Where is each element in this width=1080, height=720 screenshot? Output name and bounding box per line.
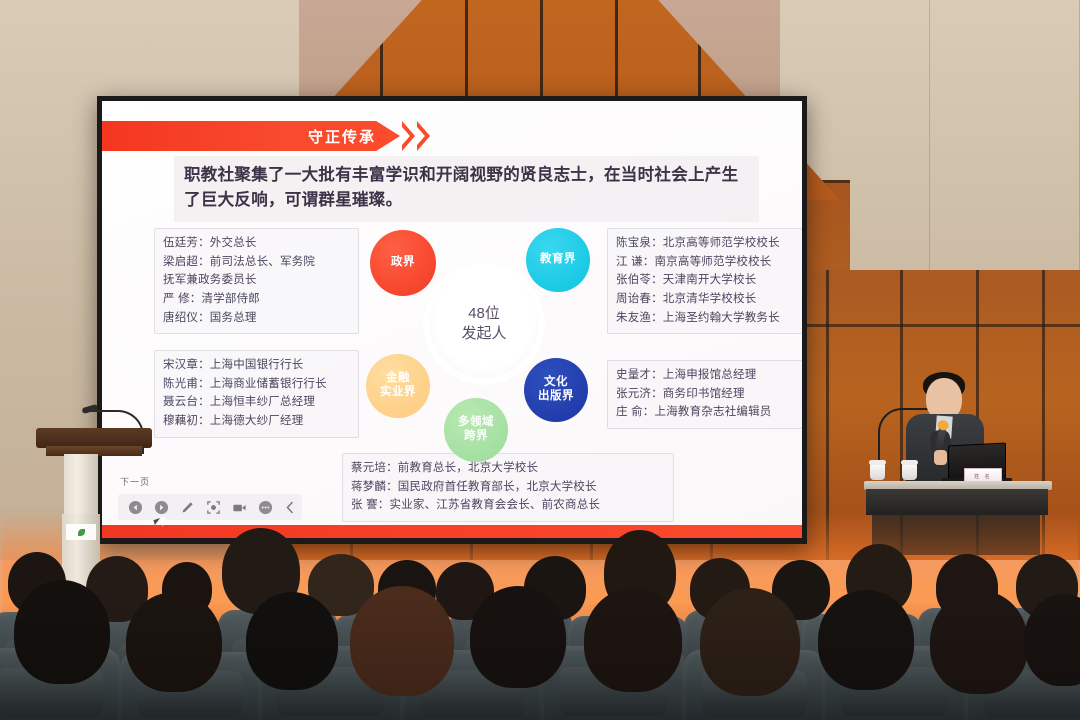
info-line: 张元济：商务印书馆经理	[616, 385, 802, 404]
bubble-label: 文化	[544, 376, 568, 390]
info-line: 聂云台：上海恒丰纱厂总经理	[163, 393, 350, 412]
founders-bubble-diagram: 48位 发起人 政界 教育界 金融 实业界 文化 出版界	[364, 226, 604, 466]
tea-cup-1	[870, 464, 885, 480]
info-line: 蒋梦麟：国民政府首任教育部长，北京大学校长	[351, 478, 665, 497]
info-line: 陈宝泉：北京高等师范学校校长	[616, 234, 802, 253]
banner-shape: 守正传承	[102, 121, 400, 151]
audience-head	[930, 590, 1028, 694]
info-box-finance: 宋汉章：上海中国银行行长 陈光甫：上海商业储蓄银行行长 聂云台：上海恒丰纱厂总经…	[154, 350, 359, 438]
diagram-hub: 48位 发起人	[430, 270, 538, 378]
banner-chevron-2-icon	[417, 121, 430, 151]
info-line: 朱友渔：上海圣约翰大学教务长	[616, 309, 802, 328]
hub-count: 48位	[468, 304, 500, 324]
info-line: 唐绍仪：国务总理	[163, 309, 350, 328]
slide-banner: 守正传承	[102, 121, 457, 151]
info-line: 宋汉章：上海中国银行行长	[163, 356, 350, 375]
bubble-label: 政界	[391, 256, 415, 270]
speaker-hand	[934, 450, 947, 465]
collapse-icon[interactable]	[284, 499, 296, 516]
bubble-label: 教育界	[540, 253, 576, 267]
presentation-slide: 守正传承 职教社聚集了一大批有丰富学识和开阔视野的贤良志士，在当时社会上产生了巨…	[102, 101, 802, 538]
bubble-label: 多领域	[458, 416, 494, 430]
bubble-label-2: 出版界	[538, 390, 574, 404]
video-record-icon[interactable]	[232, 499, 247, 516]
info-box-culture: 史量才：上海申报馆总经理 张元济：商务印书馆经理 庄 俞：上海教育杂志社编辑员	[607, 360, 802, 429]
slide-headline: 职教社聚集了一大批有丰富学识和开阔视野的贤良志士，在当时社会上产生了巨大反响，可…	[174, 156, 759, 222]
projection-screen: 守正传承 职教社聚集了一大批有丰富学识和开阔视野的贤良志士，在当时社会上产生了巨…	[97, 96, 807, 544]
banner-title: 守正传承	[308, 126, 376, 147]
bubble-label-2: 跨界	[464, 430, 488, 444]
hub-label: 发起人	[461, 324, 506, 344]
audience-head	[14, 580, 110, 684]
info-line: 梁启超：前司法总长、军务院	[163, 253, 350, 272]
bubble-education: 教育界	[526, 228, 590, 292]
audience-head	[700, 588, 800, 696]
audience-head	[126, 592, 222, 692]
info-line: 伍廷芳：外交总长	[163, 234, 350, 253]
info-line: 严 修：清学部侍郎	[163, 290, 350, 309]
info-line: 穆藕初：上海德大纱厂经理	[163, 412, 350, 431]
bubble-politics: 政界	[370, 230, 436, 296]
banner-chevron-1-icon	[402, 121, 415, 151]
audience-head	[818, 590, 914, 690]
bubble-culture: 文化 出版界	[524, 358, 588, 422]
audience-head	[584, 588, 682, 692]
tea-cup-2	[902, 464, 917, 480]
info-line: 陈光甫：上海商业储蓄银行行长	[163, 375, 350, 394]
audience-head	[246, 592, 338, 690]
pen-annotate-icon[interactable]	[180, 499, 195, 516]
auditorium-scene: 守正传承 职教社聚集了一大批有丰富学识和开阔视野的贤良志士，在当时社会上产生了巨…	[0, 0, 1080, 720]
more-options-icon[interactable]	[258, 499, 273, 516]
slide-content: 伍廷芳：外交总长 梁启超：前司法总长、军务院 抚军兼政务委员长 严 修：清学部侍…	[102, 226, 802, 516]
info-line: 庄 俞：上海教育杂志社编辑员	[616, 403, 802, 422]
podium-surface	[36, 428, 152, 448]
info-line: 周诒春：北京清华学校校长	[616, 290, 802, 309]
info-line: 张伯苓：天津南开大学校长	[616, 271, 802, 290]
audience-head	[350, 586, 454, 696]
bubble-label: 金融	[386, 372, 410, 386]
info-box-politics: 伍廷芳：外交总长 梁启超：前司法总长、军务院 抚军兼政务委员长 严 修：清学部侍…	[154, 228, 359, 334]
info-line: 史量才：上海申报馆总经理	[616, 366, 802, 385]
bubble-crossfield: 多领域 跨界	[444, 398, 508, 462]
desk-front-panel	[866, 489, 1048, 515]
audience-seating	[0, 520, 1080, 720]
info-line: 抚军兼政务委员长	[163, 271, 350, 290]
info-line: 江 谦：南京高等师范学校校长	[616, 253, 802, 272]
audience-head	[470, 586, 566, 688]
bubble-label-2: 实业界	[380, 386, 416, 400]
info-line: 张 謇：实业家、江苏省教育会会长、前农商总长	[351, 496, 665, 515]
laser-focus-icon[interactable]	[206, 499, 221, 516]
next-slide-icon[interactable]	[154, 499, 169, 516]
info-box-education: 陈宝泉：北京高等师范学校校长 江 谦：南京高等师范学校校长 张伯苓：天津南开大学…	[607, 228, 802, 334]
bubble-finance: 金融 实业界	[366, 354, 430, 418]
